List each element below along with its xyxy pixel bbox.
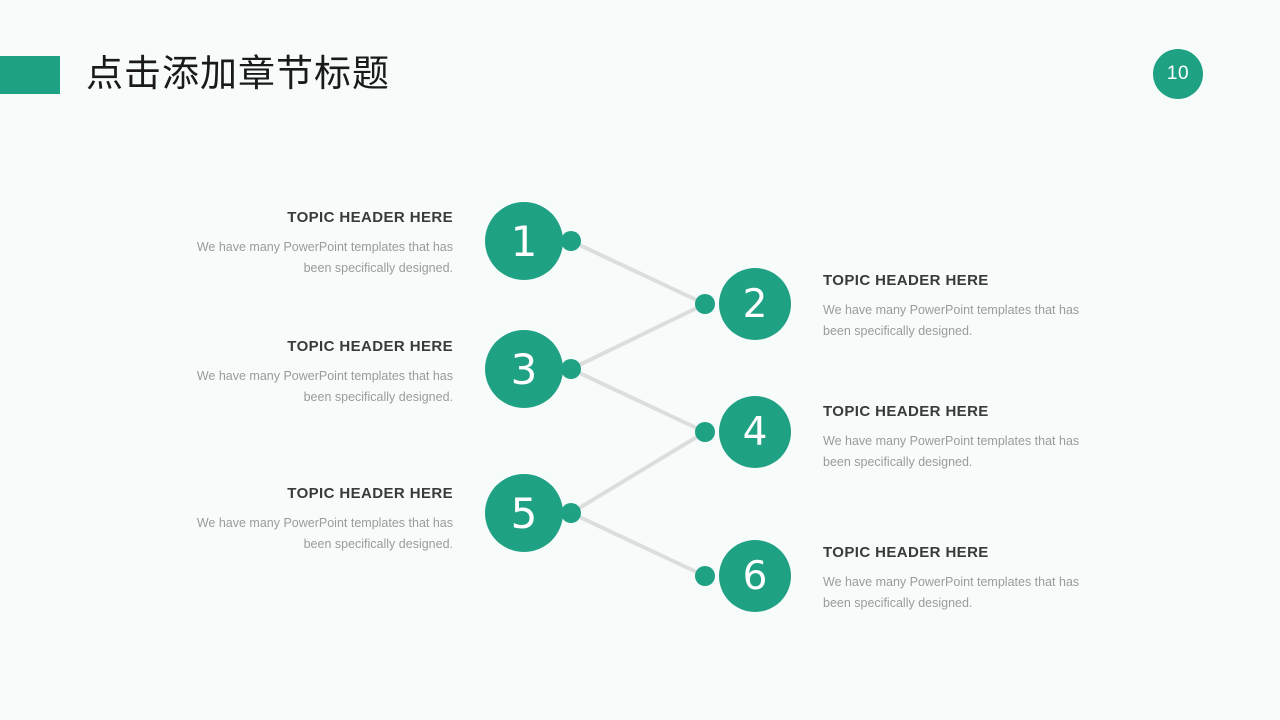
topic-body-4: We have many PowerPoint templates that h… [823, 431, 1103, 473]
topic-header-6: TOPIC HEADER HERE [823, 543, 1103, 563]
text-block-1: TOPIC HEADER HERE We have many PowerPoin… [173, 208, 453, 279]
connector-dot-5 [561, 503, 581, 523]
topic-header-2: TOPIC HEADER HERE [823, 271, 1103, 291]
process-node-6[interactable]: 6 [719, 540, 791, 612]
process-node-5[interactable]: 5 [485, 474, 563, 552]
topic-body-6: We have many PowerPoint templates that h… [823, 572, 1103, 614]
process-diagram: 1 TOPIC HEADER HERE We have many PowerPo… [0, 0, 1280, 720]
text-block-5: TOPIC HEADER HERE We have many PowerPoin… [173, 484, 453, 555]
topic-header-1: TOPIC HEADER HERE [173, 208, 453, 228]
slide-canvas: 点击添加章节标题 10 1 TOPIC HEADER HERE We have … [0, 0, 1280, 720]
text-block-2: TOPIC HEADER HERE We have many PowerPoin… [823, 271, 1103, 342]
text-block-4: TOPIC HEADER HERE We have many PowerPoin… [823, 402, 1103, 473]
process-node-2[interactable]: 2 [719, 268, 791, 340]
process-node-4[interactable]: 4 [719, 396, 791, 468]
process-node-1[interactable]: 1 [485, 202, 563, 280]
text-block-6: TOPIC HEADER HERE We have many PowerPoin… [823, 543, 1103, 614]
topic-body-2: We have many PowerPoint templates that h… [823, 300, 1103, 342]
topic-body-5: We have many PowerPoint templates that h… [173, 513, 453, 555]
process-node-3[interactable]: 3 [485, 330, 563, 408]
topic-header-3: TOPIC HEADER HERE [173, 337, 453, 357]
text-block-3: TOPIC HEADER HERE We have many PowerPoin… [173, 337, 453, 408]
connector-dot-4 [695, 422, 715, 442]
connector-dot-1 [561, 231, 581, 251]
connector-dot-6 [695, 566, 715, 586]
topic-header-5: TOPIC HEADER HERE [173, 484, 453, 504]
topic-header-4: TOPIC HEADER HERE [823, 402, 1103, 422]
topic-body-3: We have many PowerPoint templates that h… [173, 366, 453, 408]
connector-dot-2 [695, 294, 715, 314]
connector-dot-3 [561, 359, 581, 379]
topic-body-1: We have many PowerPoint templates that h… [173, 237, 453, 279]
